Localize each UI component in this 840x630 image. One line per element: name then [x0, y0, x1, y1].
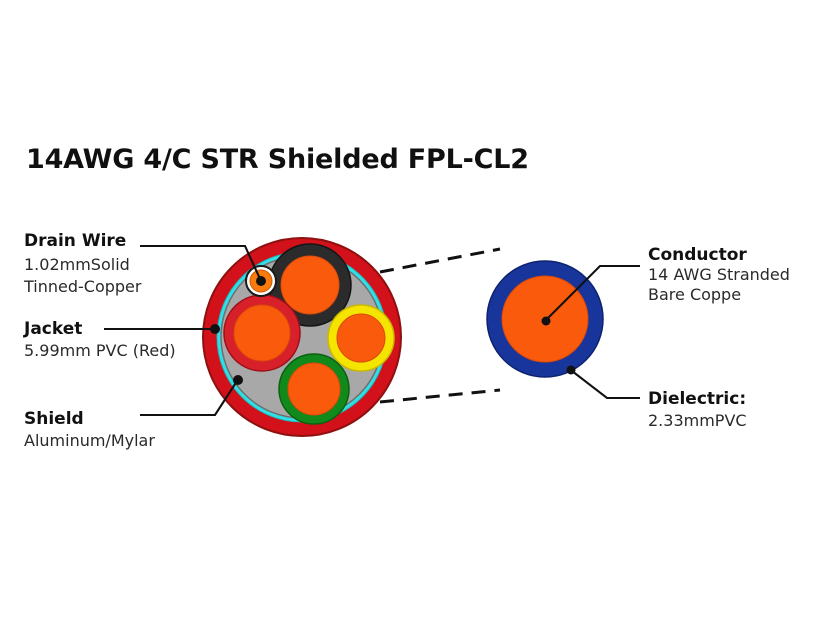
callout-shield-title: Shield — [24, 409, 84, 429]
conductor-yellow-core — [337, 314, 385, 362]
cable-cross-section-figure: 14AWG 4/C STR Shielded FPL-CL2 — [0, 0, 840, 630]
page-title: 14AWG 4/C STR Shielded FPL-CL2 — [26, 144, 529, 175]
cable-diagram: 14AWG 4/C STR Shielded FPL-CL2 — [0, 0, 840, 630]
leader-dot-conductor — [542, 317, 551, 326]
callout-shield-line-1: Aluminum/Mylar — [24, 431, 155, 450]
callout-conductor-title: Conductor — [648, 245, 747, 265]
callout-drain-wire-line-2: Tinned-Copper — [23, 277, 142, 296]
leader-dot-shield — [233, 375, 243, 385]
conductor-black-core — [281, 256, 339, 314]
conductor-green-core — [288, 363, 340, 415]
callout-dielectric-line-1: 2.33mmPVC — [648, 411, 747, 430]
callout-jacket-title: Jacket — [23, 319, 82, 339]
callout-dielectric-title: Dielectric: — [648, 389, 746, 409]
callout-conductor-line-2: Bare Coppe — [648, 285, 741, 304]
callout-drain-wire-line-1: 1.02mmSolid — [24, 255, 130, 274]
leader-dot-jacket — [210, 324, 220, 334]
conductor-yellow — [328, 305, 394, 371]
conductor-green — [279, 354, 349, 424]
callout-jacket-line-1: 5.99mm PVC (Red) — [24, 341, 176, 360]
callout-drain-wire-title: Drain Wire — [24, 231, 126, 251]
callout-conductor-line-1: 14 AWG Stranded — [648, 265, 790, 284]
figure-background — [0, 0, 840, 630]
leader-dot-dielectric — [567, 366, 576, 375]
conductor-red-core — [234, 305, 290, 361]
cable-cross-section — [203, 238, 401, 436]
callout-drain-wire: Drain Wire 1.02mmSolid Tinned-Copper — [23, 231, 142, 296]
leader-dot-drain-wire — [257, 277, 266, 286]
conductor-red — [224, 295, 300, 371]
